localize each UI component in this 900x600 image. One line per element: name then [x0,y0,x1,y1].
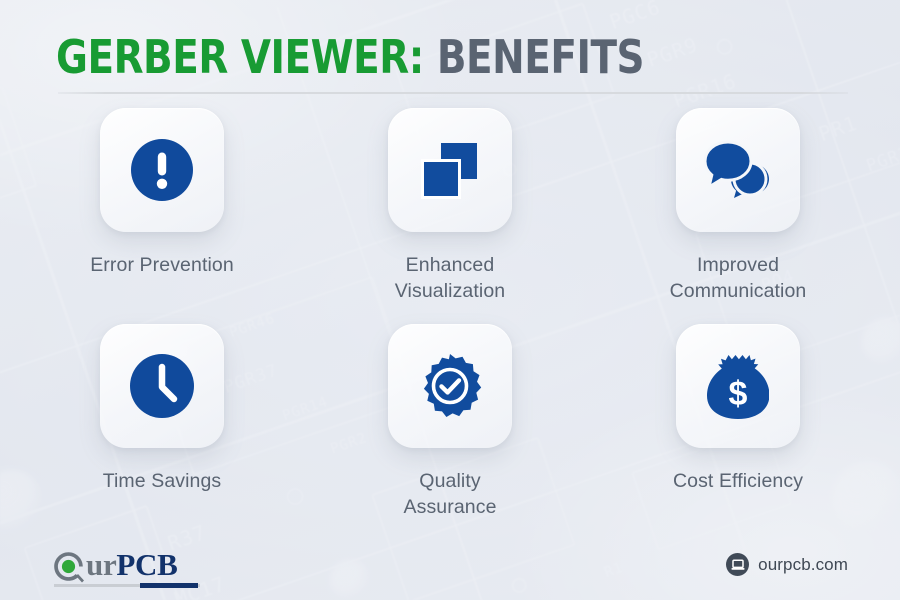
benefit-item-improved-communication: Improved Communication [594,108,882,324]
benefit-label: Enhanced Visualization [395,252,505,304]
benefit-item-enhanced-visualization: Enhanced Visualization [306,108,594,324]
ourpcb-logo-text: urPCB [86,548,178,582]
infographic-canvas: PGC9 PGR20 PGC6 PGR9 PGR16 PGR37 PGR25 P… [0,0,900,600]
exclamation-circle-icon [131,139,193,201]
clock-icon [130,354,194,418]
logo-text-pcb: PCB [116,547,177,582]
website-link[interactable]: ourpcb.com [726,553,848,576]
benefits-grid: Error Prevention Enhanced Visualization [18,108,882,540]
logo-text-ur: ur [86,547,116,582]
page-title: GERBER VIEWER: BENEFITS [56,34,644,80]
benefit-item-cost-efficiency: $ Cost Efficiency [594,324,882,540]
laptop-icon [726,553,749,576]
page-title-gray: BENEFITS [437,30,644,84]
verified-badge-icon [418,354,482,418]
benefit-item-error-prevention: Error Prevention [18,108,306,324]
logo-underline-accent [140,583,198,588]
benefit-label: Time Savings [103,468,222,494]
benefit-label: Error Prevention [90,252,234,278]
benefit-label: Cost Efficiency [673,468,803,494]
benefit-icon-card [388,324,512,448]
page-title-green: GERBER VIEWER: [56,30,424,84]
benefit-item-time-savings: Time Savings [18,324,306,540]
benefit-icon-card [388,108,512,232]
benefit-label: Improved Communication [670,252,807,304]
money-bag-icon: $ [707,353,769,419]
website-label: ourpcb.com [758,555,848,575]
benefit-icon-card [100,108,224,232]
ourpcb-logo[interactable]: urPCB [52,548,212,590]
infographic-content: GERBER VIEWER: BENEFITS Error Prevention [0,0,900,600]
title-divider [58,92,848,94]
benefit-icon-card: $ [676,324,800,448]
benefit-item-quality-assurance: Quality Assurance [306,324,594,540]
benefit-label: Quality Assurance [403,468,496,520]
speech-bubbles-icon [704,139,772,201]
benefit-icon-card [676,108,800,232]
layers-squares-icon [417,137,483,203]
svg-text:$: $ [729,375,748,413]
benefit-icon-card [100,324,224,448]
ourpcb-logo-mark-icon [52,550,85,588]
